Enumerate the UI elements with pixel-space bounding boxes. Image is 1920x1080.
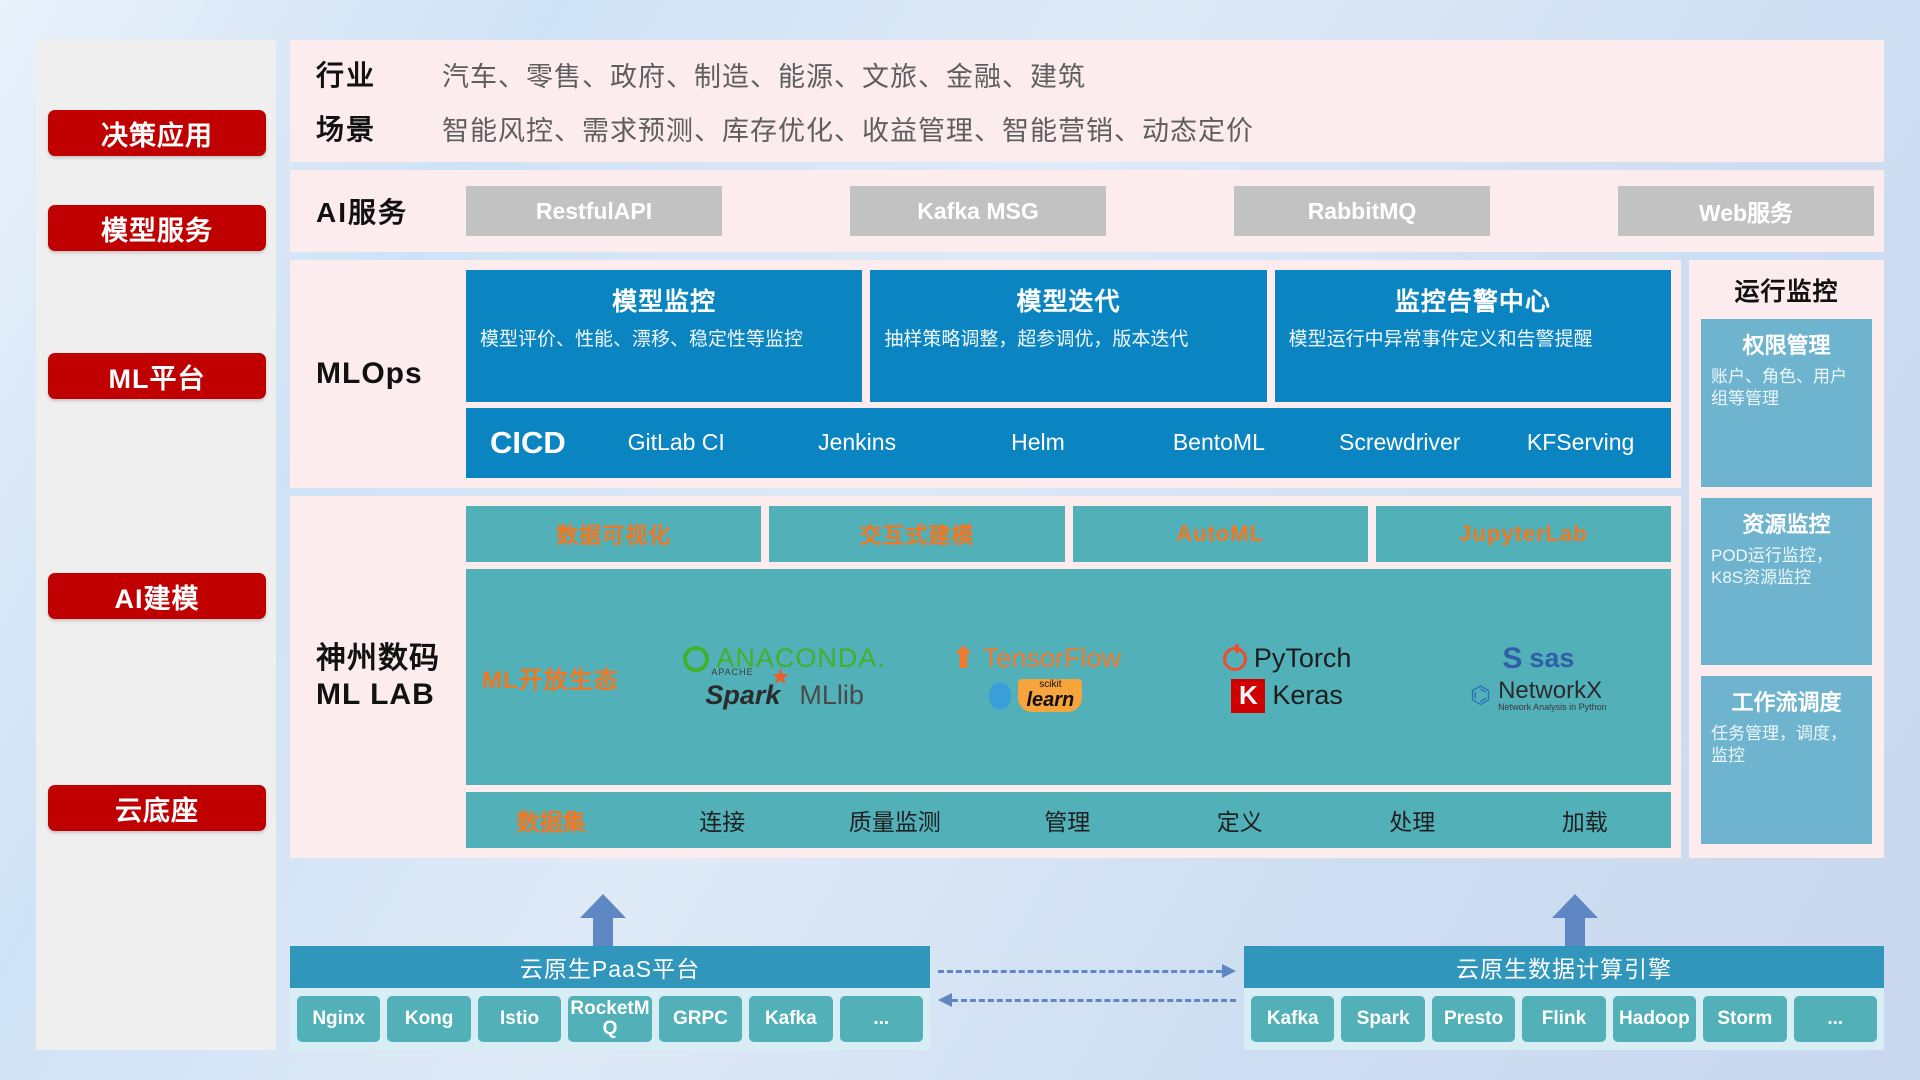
- bidirectional-connector: [930, 940, 1244, 1050]
- card-desc: 抽样策略调整，超参调优，版本迭代: [884, 327, 1252, 353]
- apache-tag: APACHE: [711, 667, 753, 677]
- ai-service-chip-rabbitmq[interactable]: RabbitMQ: [1234, 186, 1490, 236]
- ml-lab-label-line2: ML LAB: [316, 677, 435, 713]
- paas-stack: 云原生PaaS平台 Nginx Kong Istio RocketMQ GRPC…: [290, 946, 930, 1050]
- card-desc: 账户、角色、用户组等管理: [1711, 366, 1862, 410]
- connector-arrow-right-icon: [938, 970, 1236, 973]
- paas-chip-rocketmq[interactable]: RocketMQ: [568, 996, 651, 1042]
- rail-label: 决策应用: [101, 114, 213, 153]
- tensorflow-logo-text: TensorFlow: [983, 643, 1121, 674]
- rail-item-ml-platform[interactable]: ML平台: [48, 353, 266, 399]
- mlops-label: MLOps: [316, 270, 466, 478]
- tool-chip-data-visualization[interactable]: 数据可视化: [466, 506, 761, 562]
- layer-rail: 决策应用 模型服务 ML平台 AI建模 云底座: [36, 40, 276, 1050]
- pytorch-logo-text: PyTorch: [1254, 643, 1352, 674]
- data-engine-stack: 云原生数据计算引擎 Kafka Spark Presto Flink Hadoo…: [1244, 946, 1884, 1050]
- mid-section: MLOps 模型监控 模型评价、性能、漂移、稳定性等监控 模型迭代 抽样策略调整…: [290, 260, 1884, 858]
- paas-chip-nginx[interactable]: Nginx: [297, 996, 380, 1042]
- cicd-item-helm[interactable]: Helm: [948, 429, 1129, 456]
- rail-item-ai-modeling[interactable]: AI建模: [48, 573, 266, 619]
- scenario-row: 场景 智能风控、需求预测、库存优化、收益管理、智能营销、动态定价: [316, 108, 1874, 148]
- chip-label: RestfulAPI: [536, 198, 652, 225]
- cicd-item-bentoml[interactable]: BentoML: [1128, 429, 1309, 456]
- rail-label: AI建模: [115, 577, 200, 616]
- engine-chip-kafka[interactable]: Kafka: [1251, 996, 1334, 1042]
- paas-chip-more[interactable]: ...: [840, 996, 923, 1042]
- card-title: 资源监控: [1711, 507, 1862, 539]
- cicd-item-screwdriver[interactable]: Screwdriver: [1309, 429, 1490, 456]
- runtime-monitoring-panel: 运行监控 权限管理 账户、角色、用户组等管理 资源监控 POD运行监控，K8S资…: [1689, 260, 1884, 858]
- tensorflow-logo: ⬆ TensorFlow: [951, 641, 1121, 676]
- ai-service-chip-kafka-msg[interactable]: Kafka MSG: [850, 186, 1106, 236]
- ml-ecosystem-label: ML开放生态: [482, 660, 662, 695]
- monitor-card-workflow[interactable]: 工作流调度 任务管理，调度，监控: [1701, 676, 1872, 844]
- engine-chip-flink[interactable]: Flink: [1522, 996, 1605, 1042]
- networkx-graph-icon: ⌬: [1470, 681, 1491, 710]
- ai-modeling-band: 神州数码 ML LAB 数据可视化 交互式建模 AutoML JupyterLa…: [290, 496, 1681, 858]
- keras-mark-icon: K: [1231, 679, 1265, 713]
- networkx-tagline: Network Analysis in Python: [1498, 703, 1607, 712]
- mllib-logo-text: MLlib: [799, 680, 864, 711]
- main-column: 行业 汽车、零售、政府、制造、能源、文旅、金融、建筑 场景 智能风控、需求预测、…: [290, 40, 1884, 1050]
- dataset-item-process[interactable]: 处理: [1326, 803, 1499, 837]
- engine-chip-more[interactable]: ...: [1794, 996, 1877, 1042]
- paas-chip-grpc[interactable]: GRPC: [659, 996, 742, 1042]
- scikit-learn-pill: scikit learn: [1018, 679, 1082, 712]
- cicd-item-kfserving[interactable]: KFServing: [1490, 429, 1671, 456]
- networkx-logo: ⌬ NetworkX Network Analysis in Python: [1470, 678, 1607, 713]
- paas-chip-istio[interactable]: Istio: [478, 996, 561, 1042]
- tool-chip-automl[interactable]: AutoML: [1073, 506, 1368, 562]
- cicd-item-gitlab-ci[interactable]: GitLab CI: [586, 429, 767, 456]
- paas-chip-kong[interactable]: Kong: [387, 996, 470, 1042]
- pytorch-logo: PyTorch: [1223, 643, 1352, 674]
- engine-chip-hadoop[interactable]: Hadoop: [1613, 996, 1696, 1042]
- card-title: 工作流调度: [1711, 685, 1862, 717]
- industry-row: 行业 汽车、零售、政府、制造、能源、文旅、金融、建筑: [316, 54, 1874, 94]
- chip-label: Kafka MSG: [917, 198, 1038, 225]
- ml-ecosystem-row: ML开放生态 ANACONDA. ⬆ TensorFlow: [466, 569, 1671, 785]
- dataset-item-quality[interactable]: 质量监测: [809, 803, 982, 837]
- card-desc: 模型运行中异常事件定义和告警提醒: [1289, 327, 1657, 353]
- card-title: 模型监控: [480, 282, 848, 318]
- pytorch-flame-icon: [1223, 647, 1247, 671]
- monitor-card-permission[interactable]: 权限管理 账户、角色、用户组等管理: [1701, 319, 1872, 487]
- dataset-item-define[interactable]: 定义: [1154, 803, 1327, 837]
- architecture-diagram: 决策应用 模型服务 ML平台 AI建模 云底座 行业 汽车、零售、政府、制造、能…: [0, 0, 1920, 1080]
- data-engine-up-arrow-icon: [1552, 894, 1598, 946]
- dataset-label: 数据集: [466, 803, 636, 837]
- card-title: 监控告警中心: [1289, 282, 1657, 318]
- rail-label: ML平台: [109, 357, 206, 396]
- card-title: 模型迭代: [884, 282, 1252, 318]
- ai-service-label: AI服务: [316, 191, 466, 231]
- chip-label: Web服务: [1699, 194, 1793, 228]
- engine-chip-presto[interactable]: Presto: [1432, 996, 1515, 1042]
- ml-lab-label: 神州数码 ML LAB: [316, 506, 466, 848]
- cicd-bar: CICD GitLab CI Jenkins Helm BentoML Scre…: [466, 408, 1671, 478]
- paas-title: 云原生PaaS平台: [290, 946, 930, 988]
- card-desc: 模型评价、性能、漂移、稳定性等监控: [480, 327, 848, 353]
- decision-apps-band: 行业 汽车、零售、政府、制造、能源、文旅、金融、建筑 场景 智能风控、需求预测、…: [290, 40, 1884, 162]
- tensorflow-mark-icon: ⬆: [951, 641, 976, 676]
- scenario-value: 智能风控、需求预测、库存优化、收益管理、智能营销、动态定价: [442, 109, 1254, 148]
- ai-service-chip-restfulapi[interactable]: RestfulAPI: [466, 186, 722, 236]
- connector-arrow-left-icon: [938, 999, 1236, 1002]
- tool-chip-interactive-modeling[interactable]: 交互式建模: [769, 506, 1064, 562]
- learn-text: learn: [1026, 689, 1074, 711]
- ai-service-band: AI服务 RestfulAPI Kafka MSG RabbitMQ Web服务: [290, 170, 1884, 252]
- monitor-card-resource[interactable]: 资源监控 POD运行监控，K8S资源监控: [1701, 498, 1872, 666]
- rail-label: 模型服务: [101, 209, 213, 248]
- ai-service-chip-web-service[interactable]: Web服务: [1618, 186, 1874, 236]
- spark-logo-text: Spark: [705, 680, 780, 710]
- sas-swirl-icon: S: [1502, 642, 1522, 676]
- scikit-learn-logo: scikit learn: [989, 679, 1082, 712]
- scenario-label: 场景: [316, 108, 394, 148]
- card-title: 权限管理: [1711, 328, 1862, 360]
- data-engine-title: 云原生数据计算引擎: [1244, 946, 1884, 988]
- modeling-tools-row: 数据可视化 交互式建模 AutoML JupyterLab: [466, 506, 1671, 562]
- runtime-monitoring-title: 运行监控: [1701, 272, 1872, 308]
- cicd-label: CICD: [466, 425, 586, 461]
- dataset-row: 数据集 连接 质量监测 管理 定义 处理 加载: [466, 792, 1671, 848]
- mlops-card-alert-center[interactable]: 监控告警中心 模型运行中异常事件定义和告警提醒: [1275, 270, 1671, 402]
- spark-star-icon: ★: [771, 664, 791, 690]
- chip-label: RabbitMQ: [1308, 198, 1417, 225]
- scikit-blob-icon: [989, 682, 1011, 710]
- ml-lab-label-line1: 神州数码: [316, 641, 440, 677]
- cicd-item-jenkins[interactable]: Jenkins: [767, 429, 948, 456]
- engine-chip-spark[interactable]: Spark: [1341, 996, 1424, 1042]
- sas-logo: S sas: [1502, 642, 1574, 676]
- rail-label: 云底座: [115, 789, 199, 828]
- dataset-item-connect[interactable]: 连接: [636, 803, 809, 837]
- paas-chip-kafka[interactable]: Kafka: [749, 996, 832, 1042]
- cloud-base-section: 云原生PaaS平台 Nginx Kong Istio RocketMQ GRPC…: [290, 872, 1884, 1050]
- anaconda-ring-icon: [683, 646, 709, 672]
- spark-mllib-logo: APACHE Spark ★ MLlib: [705, 680, 864, 711]
- rail-item-decision-apps[interactable]: 决策应用: [48, 110, 266, 156]
- industry-value: 汽车、零售、政府、制造、能源、文旅、金融、建筑: [442, 55, 1086, 94]
- dataset-item-manage[interactable]: 管理: [981, 803, 1154, 837]
- paas-up-arrow-icon: [580, 894, 626, 946]
- industry-label: 行业: [316, 54, 394, 94]
- mlops-card-model-monitoring[interactable]: 模型监控 模型评价、性能、漂移、稳定性等监控: [466, 270, 862, 402]
- mlops-band: MLOps 模型监控 模型评价、性能、漂移、稳定性等监控 模型迭代 抽样策略调整…: [290, 260, 1681, 488]
- engine-chip-storm[interactable]: Storm: [1703, 996, 1786, 1042]
- dataset-item-load[interactable]: 加载: [1499, 803, 1672, 837]
- mlops-card-model-iteration[interactable]: 模型迭代 抽样策略调整，超参调优，版本迭代: [870, 270, 1266, 402]
- keras-logo-text: Keras: [1272, 680, 1343, 711]
- sas-logo-text: sas: [1529, 643, 1574, 674]
- networkx-logo-text: NetworkX: [1498, 678, 1607, 703]
- card-desc: POD运行监控，K8S资源监控: [1711, 545, 1862, 589]
- keras-logo: K Keras: [1231, 679, 1343, 713]
- card-desc: 任务管理，调度，监控: [1711, 723, 1862, 767]
- rail-item-cloud-base[interactable]: 云底座: [48, 785, 266, 831]
- rail-item-model-service[interactable]: 模型服务: [48, 205, 266, 251]
- tool-chip-jupyterlab[interactable]: JupyterLab: [1376, 506, 1671, 562]
